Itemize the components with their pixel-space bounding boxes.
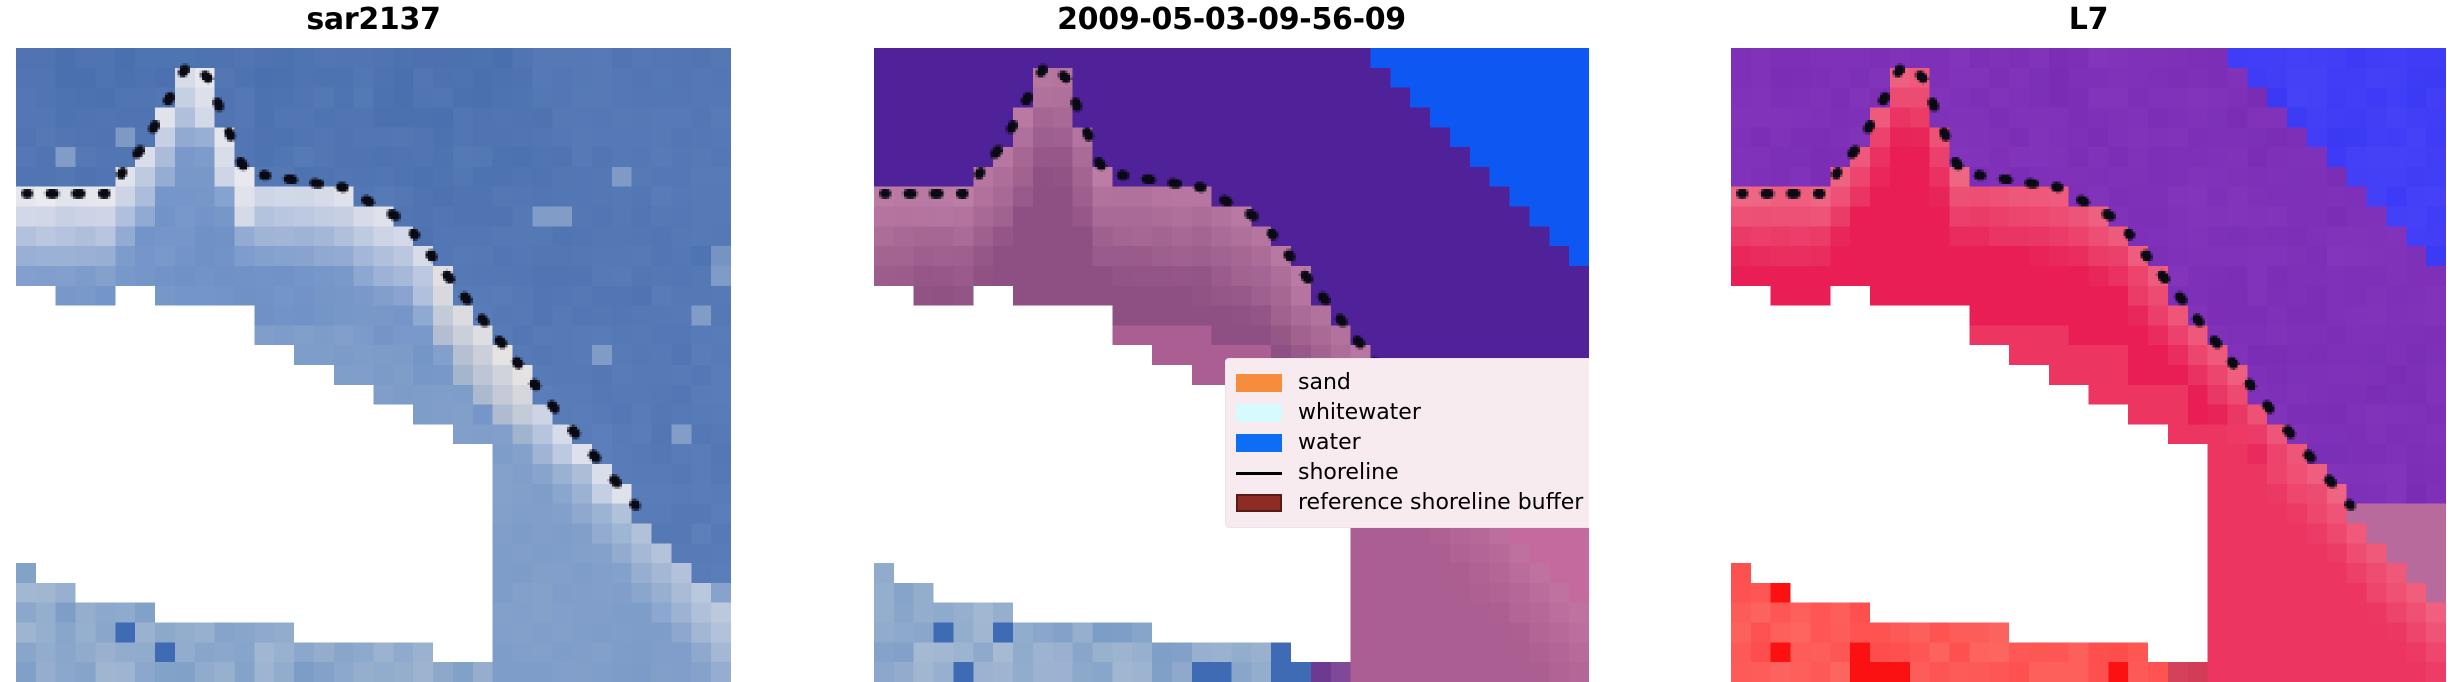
- legend-item-sand: sand: [1236, 368, 1583, 398]
- panel-image-l7: [1731, 48, 2446, 682]
- panel-image-sar2137: [16, 48, 731, 682]
- panel-classified: 2009-05-03-09-56-09 sand whitewater wate…: [874, 0, 1589, 682]
- legend-item-shoreline: shoreline: [1236, 458, 1583, 488]
- panel-title-l7: L7: [1731, 2, 2446, 38]
- legend-label-reference-shoreline-buffer: reference shoreline buffer: [1298, 490, 1583, 516]
- legend-label-water: water: [1298, 430, 1361, 456]
- legend-label-shoreline: shoreline: [1298, 460, 1399, 486]
- legend-swatch-sand: [1236, 374, 1282, 392]
- panel-sar2137: sar2137: [16, 0, 731, 682]
- legend-label-whitewater: whitewater: [1298, 400, 1421, 426]
- legend-swatch-whitewater: [1236, 404, 1282, 422]
- panel-l7: L7: [1731, 0, 2446, 682]
- legend-item-water: water: [1236, 428, 1583, 458]
- raster-sar2137: [16, 48, 731, 682]
- map-legend: sand whitewater water shoreline referenc…: [1225, 358, 1589, 528]
- panel-title-classified: 2009-05-03-09-56-09: [874, 2, 1589, 38]
- legend-item-reference-shoreline-buffer: reference shoreline buffer: [1236, 488, 1583, 518]
- legend-swatch-shoreline: [1236, 464, 1282, 482]
- panel-title-sar2137: sar2137: [16, 2, 731, 38]
- panel-image-classified: sand whitewater water shoreline referenc…: [874, 48, 1589, 682]
- legend-item-whitewater: whitewater: [1236, 398, 1583, 428]
- figure-root: sar2137 2009-05-03-09-56-09 sand whitewa…: [0, 0, 2460, 682]
- legend-swatch-reference-shoreline-buffer: [1236, 494, 1282, 512]
- raster-l7: [1731, 48, 2446, 682]
- legend-swatch-water: [1236, 434, 1282, 452]
- legend-label-sand: sand: [1298, 370, 1351, 396]
